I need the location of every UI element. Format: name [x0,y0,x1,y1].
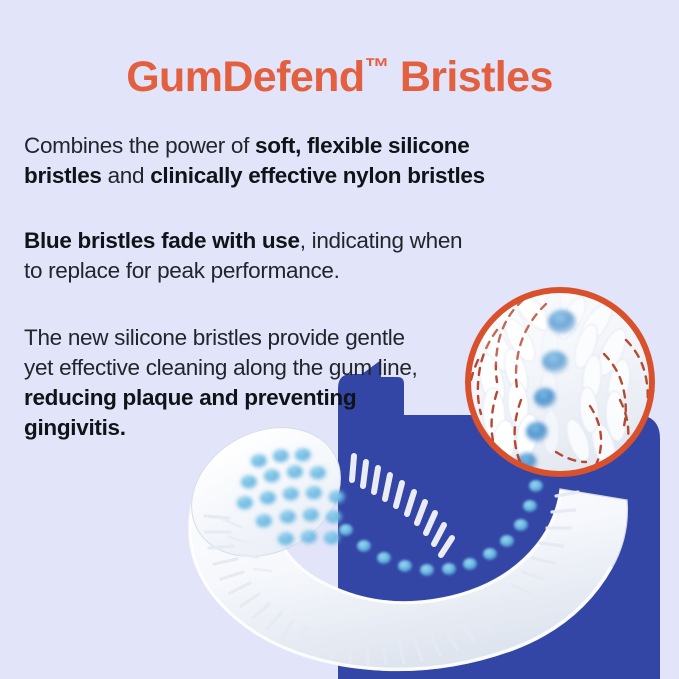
emphasis-text: reducing plaque and preventing gingiviti… [24,385,356,440]
trademark-icon: ™ [364,53,388,81]
paragraph-gum-line-cleaning: The new silicone bristles provide gentle… [24,323,424,443]
paragraph-fade-indicator: Blue bristles fade with use, indicating … [24,226,484,286]
title-suffix: Bristles [388,53,552,101]
body-text: The new silicone bristles provide gentle… [24,325,418,380]
body-text: Combines the power of [24,133,255,158]
emphasis-text: Blue bristles fade with use [24,228,300,253]
body-text: and [102,163,151,188]
paragraph-silicone-and-nylon: Combines the power of soft, flexible sil… [24,131,544,191]
product-feature-card: GumDefend™ Bristles Combines the power o… [0,0,679,679]
page-title: GumDefend™ Bristles [0,54,679,101]
brand-name: GumDefend [126,53,364,101]
emphasis-text: clinically effective nylon bristles [150,163,485,188]
